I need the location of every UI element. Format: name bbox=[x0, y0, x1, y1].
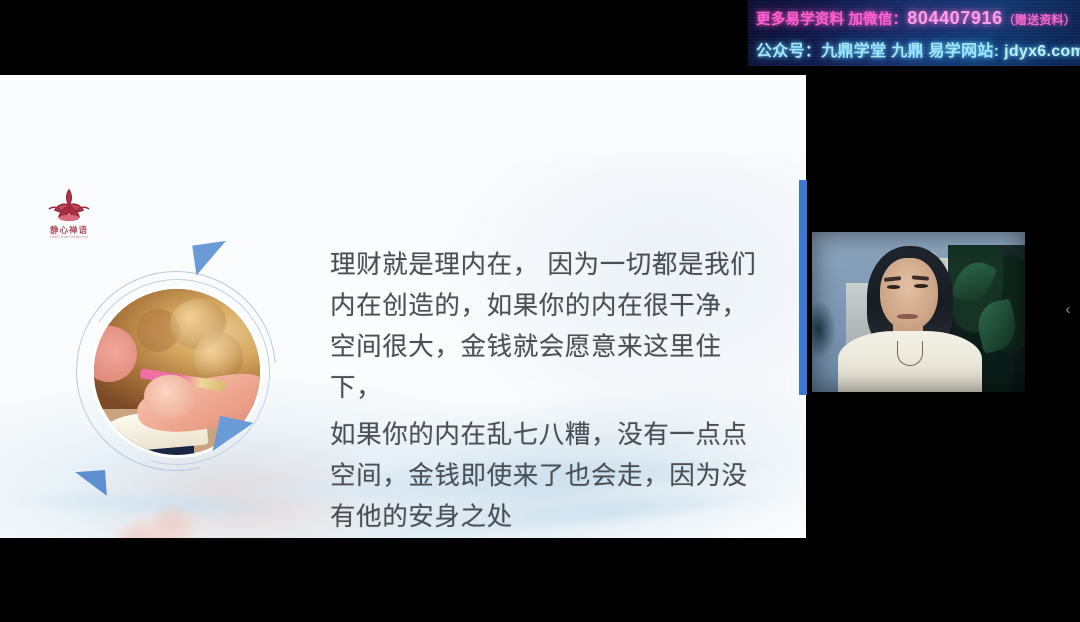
promo-banner: 更多易学资料 加微信：804407916（赠送资料） 公众号：九鼎学堂 九鼎 易… bbox=[748, 0, 1080, 66]
brand-logo: 静心禅语 JING XIN CHAN YU bbox=[30, 185, 108, 247]
lotus-logo-icon bbox=[46, 185, 92, 225]
promo-gift-note: （赠送资料） bbox=[1003, 13, 1076, 27]
brand-logo-wordmark: 静心禅语 bbox=[30, 226, 108, 235]
video-vignette bbox=[812, 232, 1025, 392]
promo-banner-line-1: 更多易学资料 加微信：804407916（赠送资料） bbox=[756, 8, 1076, 29]
promo-banner-line-2: 公众号：九鼎学堂 九鼎 易学网站: jdyx6.com bbox=[756, 37, 1080, 61]
decor-triangle-top bbox=[192, 241, 233, 301]
promo-website-url: jdyx6.com bbox=[1004, 43, 1080, 60]
chevron-left-icon[interactable]: ‹ bbox=[1060, 296, 1076, 322]
decor-triangle-right bbox=[213, 416, 254, 458]
circular-photo-decoration bbox=[70, 267, 280, 482]
presenter-video-panel[interactable] bbox=[812, 232, 1025, 392]
presentation-slide: 静心禅语 JING XIN CHAN YU bbox=[0, 75, 806, 538]
decor-triangle-bottom-left bbox=[75, 470, 107, 498]
brand-logo-subtitle: JING XIN CHAN YU bbox=[30, 236, 108, 240]
slide-accent-bar bbox=[799, 180, 807, 395]
screen-recording-view: 更多易学资料 加微信：804407916（赠送资料） 公众号：九鼎学堂 九鼎 易… bbox=[0, 0, 1080, 622]
promo-wechat-number: 804407916 bbox=[907, 8, 1003, 28]
promo-wechat-label: 更多易学资料 加微信： bbox=[756, 12, 907, 28]
slide-paragraph-2: 如果你的内在乱七八糟，没有一点点空间，金钱即使来了也会走，因为没有他的安身之处 bbox=[330, 415, 768, 538]
slide-paragraph-1: 理财就是理内在， 因为一切都是我们内在创造的，如果你的内在很干净，空间很大，金钱… bbox=[330, 245, 768, 409]
promo-official-account-label: 公众号：九鼎学堂 九鼎 易学网站: bbox=[756, 43, 999, 60]
photo-hand bbox=[144, 375, 194, 418]
slide-text-block: 理财就是理内在， 因为一切都是我们内在创造的，如果你的内在很干净，空间很大，金钱… bbox=[330, 245, 768, 538]
